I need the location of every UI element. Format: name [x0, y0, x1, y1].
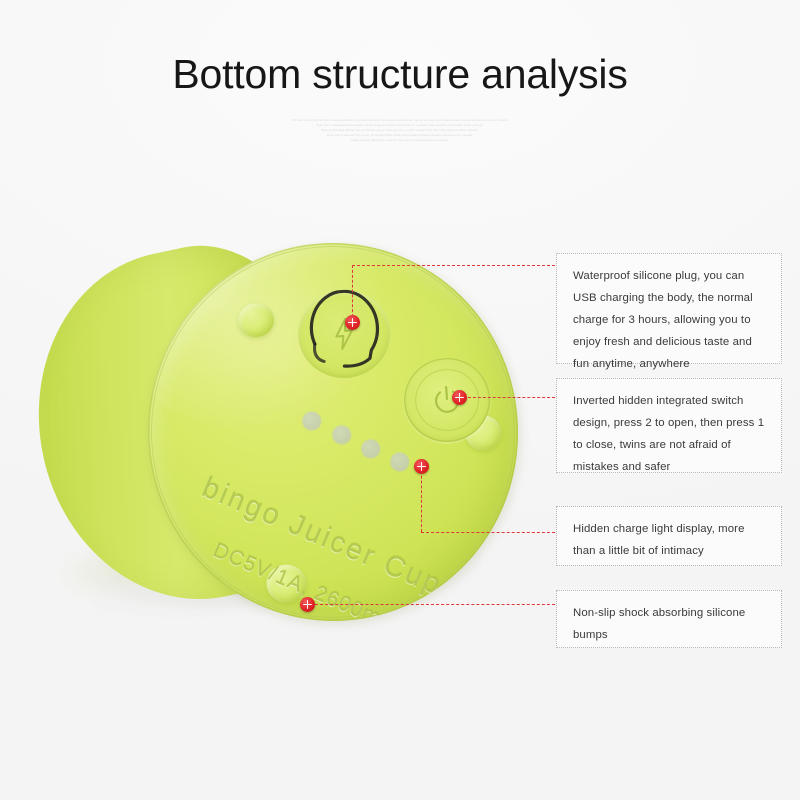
led-indicator-dot [302, 411, 322, 431]
subtitle-filler-text: The flavor of real fresh fruit juice is … [170, 119, 630, 143]
callout-text: Hidden charge light display, more than a… [573, 519, 767, 563]
usb-silicone-plug[interactable] [295, 287, 393, 381]
callout-box-inverted-switch: Inverted hidden integrated switch design… [556, 378, 782, 473]
callout-marker-charge-light[interactable] [414, 459, 429, 474]
subtitle-line: Charge indicator lights hidden under the… [280, 139, 519, 143]
silicone-bump [237, 302, 275, 338]
led-indicator-dot [361, 439, 381, 459]
callout-marker-waterproof-plug[interactable] [345, 315, 360, 330]
product-photo-juicer-cup: bingo Juicer Cup DC5V/1A, 2600mAh [20, 215, 560, 685]
callout-text: Inverted hidden integrated switch design… [573, 391, 767, 479]
callout-box-silicone-bumps: Non-slip shock absorbing silicone bumps [556, 590, 782, 648]
led-indicator-dot [390, 452, 410, 472]
leader-line-waterproof-plug-vertical [352, 265, 353, 322]
callout-text: Waterproof silicone plug, you can USB ch… [573, 266, 767, 375]
led-indicator-dot [332, 425, 352, 445]
callout-text: Non-slip shock absorbing silicone bumps [573, 603, 767, 647]
callout-box-waterproof-plug: Waterproof silicone plug, you can USB ch… [556, 253, 782, 364]
leader-line-charge-light-horizontal [421, 532, 555, 533]
callout-box-charge-light: Hidden charge light display, more than a… [556, 506, 782, 566]
callout-marker-inverted-switch[interactable] [452, 390, 467, 405]
leader-line-charge-light-vertical [421, 466, 422, 532]
infographic-canvas: Bottom structure analysis The flavor of … [0, 0, 800, 800]
power-button[interactable] [401, 355, 493, 445]
page-title: Bottom structure analysis [0, 52, 800, 97]
callout-marker-silicone-bumps[interactable] [300, 597, 315, 612]
leader-line-waterproof-plug-horizontal [352, 265, 555, 266]
leader-line-inverted-switch-horizontal [463, 397, 555, 398]
leader-line-silicone-bumps-horizontal [310, 604, 555, 605]
